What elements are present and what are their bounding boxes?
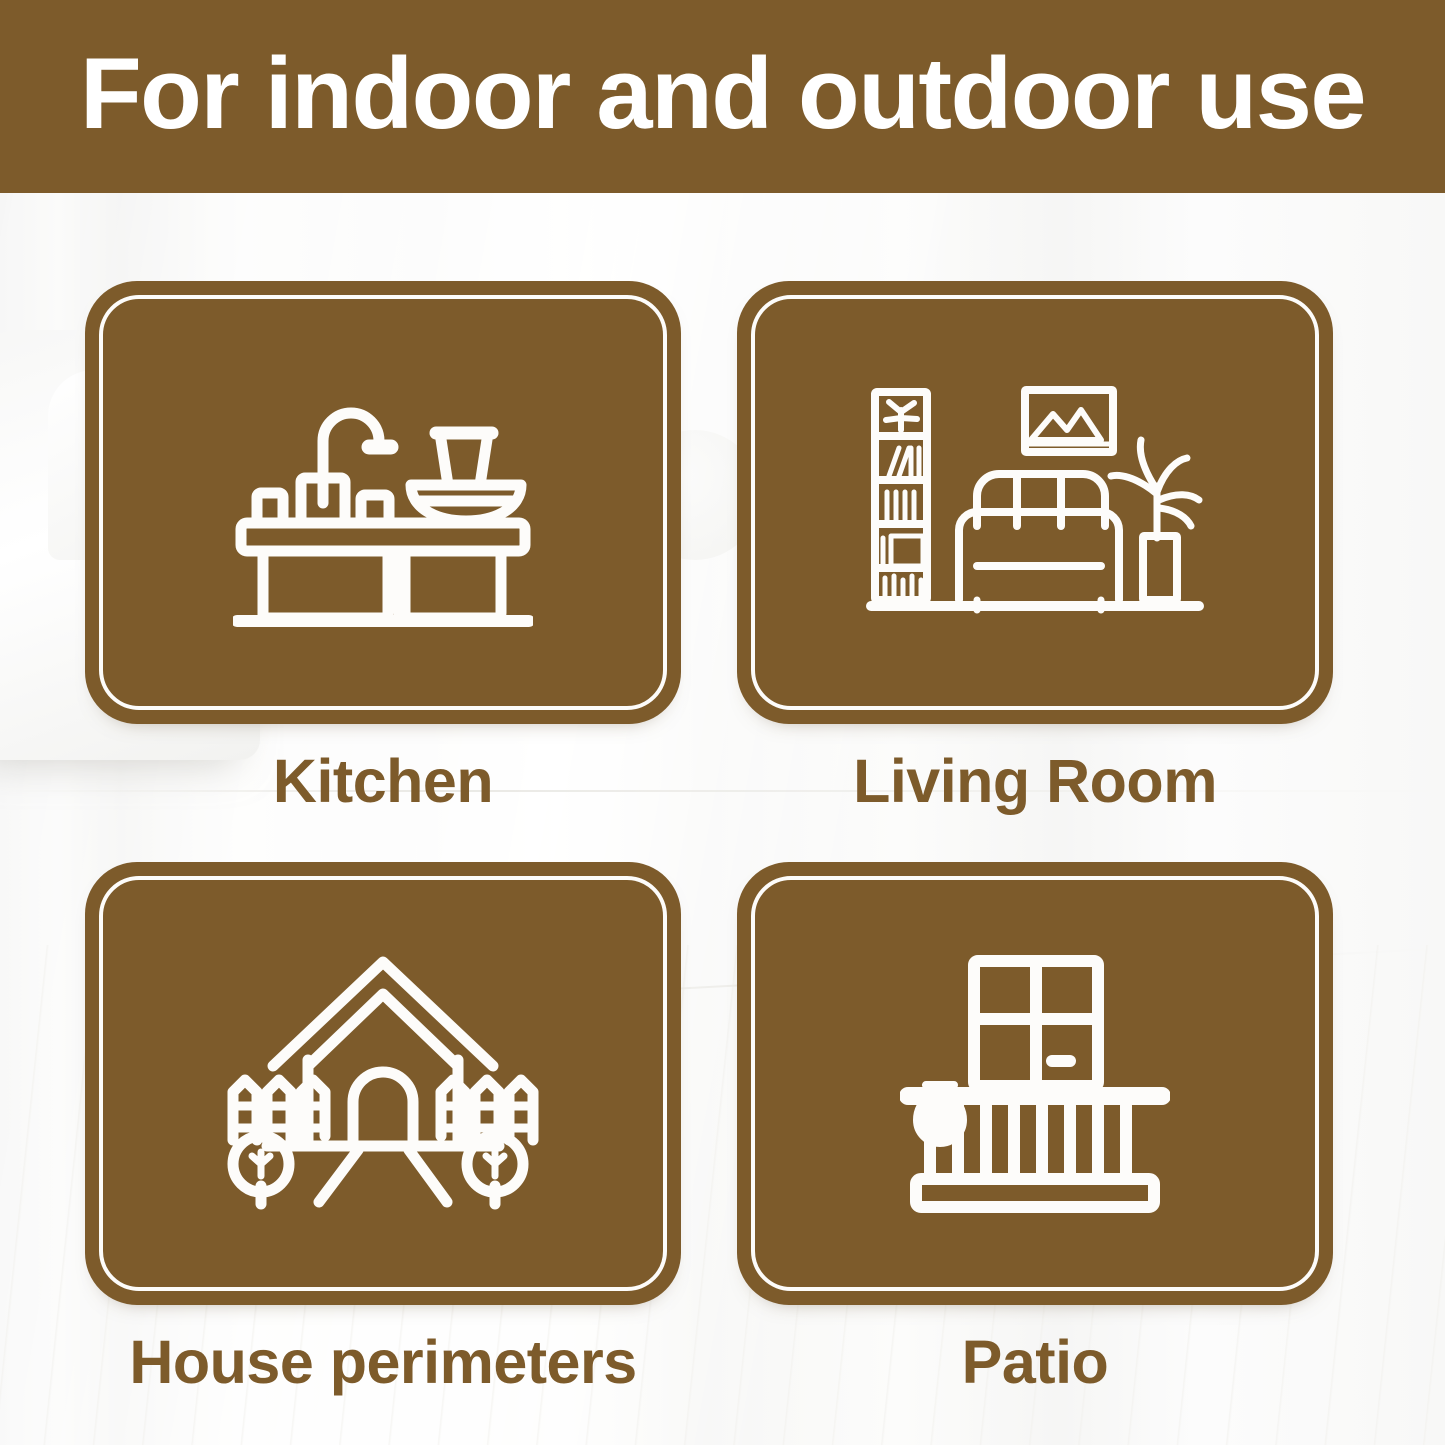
card-living-room[interactable] xyxy=(737,281,1333,724)
card-kitchen[interactable] xyxy=(85,281,681,724)
card-label-patio: Patio xyxy=(737,1329,1333,1396)
header-banner: For indoor and outdoor use xyxy=(0,0,1445,193)
card-label-kitchen: Kitchen xyxy=(85,748,681,815)
house-with-fence-icon xyxy=(85,862,681,1305)
use-case-item-living-room[interactable]: Living Room xyxy=(737,281,1333,815)
use-case-grid: Kitchen xyxy=(0,193,1445,1445)
card-patio[interactable] xyxy=(737,862,1333,1305)
card-house-perimeters[interactable] xyxy=(85,862,681,1305)
card-label-living-room: Living Room xyxy=(737,748,1333,815)
promo-graphic: For indoor and outdoor use xyxy=(0,0,1445,1445)
use-case-item-kitchen[interactable]: Kitchen xyxy=(85,281,681,815)
card-label-house-perimeters: House perimeters xyxy=(85,1329,681,1396)
use-case-item-house-perimeters[interactable]: House perimeters xyxy=(85,862,681,1396)
patio-balcony-icon xyxy=(737,862,1333,1305)
kitchen-counter-icon xyxy=(85,281,681,724)
use-case-item-patio[interactable]: Patio xyxy=(737,862,1333,1396)
living-room-sofa-icon xyxy=(737,281,1333,724)
page-title: For indoor and outdoor use xyxy=(80,44,1365,145)
